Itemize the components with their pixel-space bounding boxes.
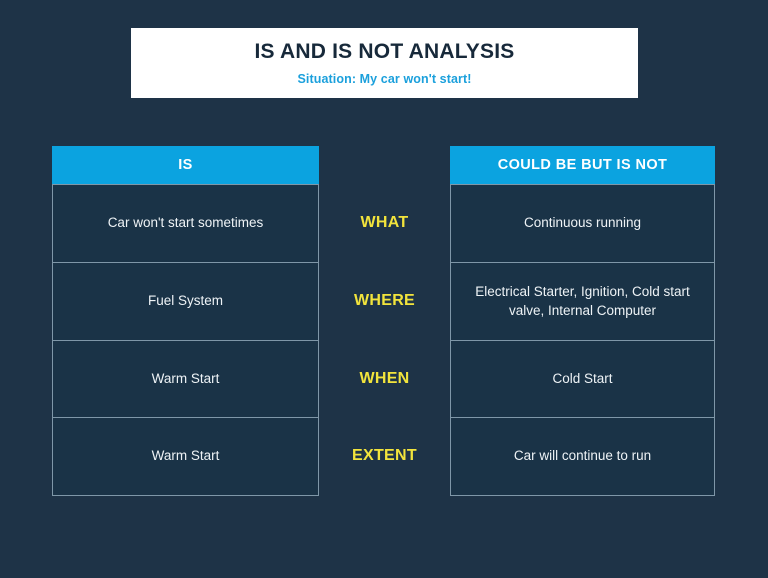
cell-text: Warm Start bbox=[152, 447, 220, 465]
page-title: IS AND IS NOT ANALYSIS bbox=[255, 40, 515, 63]
header-could-be-but-is-not: COULD BE BUT IS NOT bbox=[450, 146, 715, 184]
analysis-table: IS Car won't start sometimes Fuel System… bbox=[52, 146, 715, 501]
dimension-label: WHERE bbox=[354, 290, 415, 312]
dimension-label: EXTENT bbox=[352, 445, 417, 467]
table-cell-isnot-extent: Car will continue to run bbox=[451, 417, 714, 495]
table-cell-is-where: Fuel System bbox=[53, 262, 318, 340]
table-cell-is-extent: Warm Start bbox=[53, 417, 318, 495]
header-is-label: IS bbox=[178, 157, 193, 173]
table-cell-dimension-when: WHEN bbox=[319, 340, 450, 417]
table-cell-isnot-when: Cold Start bbox=[451, 340, 714, 417]
dimension-label: WHAT bbox=[361, 212, 409, 234]
cell-text: Car won't start sometimes bbox=[108, 214, 264, 232]
table-cell-isnot-where: Electrical Starter, Ignition, Cold start… bbox=[451, 262, 714, 340]
column-is-body: Car won't start sometimes Fuel System Wa… bbox=[52, 184, 319, 496]
column-is: IS Car won't start sometimes Fuel System… bbox=[52, 146, 319, 496]
dimension-label: WHEN bbox=[359, 368, 409, 390]
cell-text: Fuel System bbox=[148, 292, 223, 310]
cell-text: Cold Start bbox=[552, 370, 612, 388]
column-could-be-but-is-not-body: Continuous running Electrical Starter, I… bbox=[450, 184, 715, 496]
header-dimension-spacer bbox=[319, 146, 450, 184]
table-cell-is-when: Warm Start bbox=[53, 340, 318, 417]
table-cell-is-what: Car won't start sometimes bbox=[53, 184, 318, 262]
header-is: IS bbox=[52, 146, 319, 184]
cell-text: Continuous running bbox=[524, 214, 641, 232]
table-cell-dimension-extent: EXTENT bbox=[319, 417, 450, 495]
cell-text: Electrical Starter, Ignition, Cold start… bbox=[461, 283, 704, 319]
column-could-be-but-is-not: COULD BE BUT IS NOT Continuous running E… bbox=[450, 146, 715, 496]
table-cell-dimension-where: WHERE bbox=[319, 262, 450, 340]
cell-text: Warm Start bbox=[152, 370, 220, 388]
title-card: IS AND IS NOT ANALYSIS Situation: My car… bbox=[131, 28, 638, 98]
column-dimension: WHAT WHERE WHEN EXTENT bbox=[319, 146, 450, 495]
header-could-be-but-is-not-label: COULD BE BUT IS NOT bbox=[498, 157, 668, 173]
slide-root: IS AND IS NOT ANALYSIS Situation: My car… bbox=[0, 0, 768, 578]
column-dimension-body: WHAT WHERE WHEN EXTENT bbox=[319, 184, 450, 495]
table-cell-isnot-what: Continuous running bbox=[451, 184, 714, 262]
situation-subtitle: Situation: My car won't start! bbox=[297, 72, 471, 86]
table-cell-dimension-what: WHAT bbox=[319, 184, 450, 262]
cell-text: Car will continue to run bbox=[514, 447, 651, 465]
